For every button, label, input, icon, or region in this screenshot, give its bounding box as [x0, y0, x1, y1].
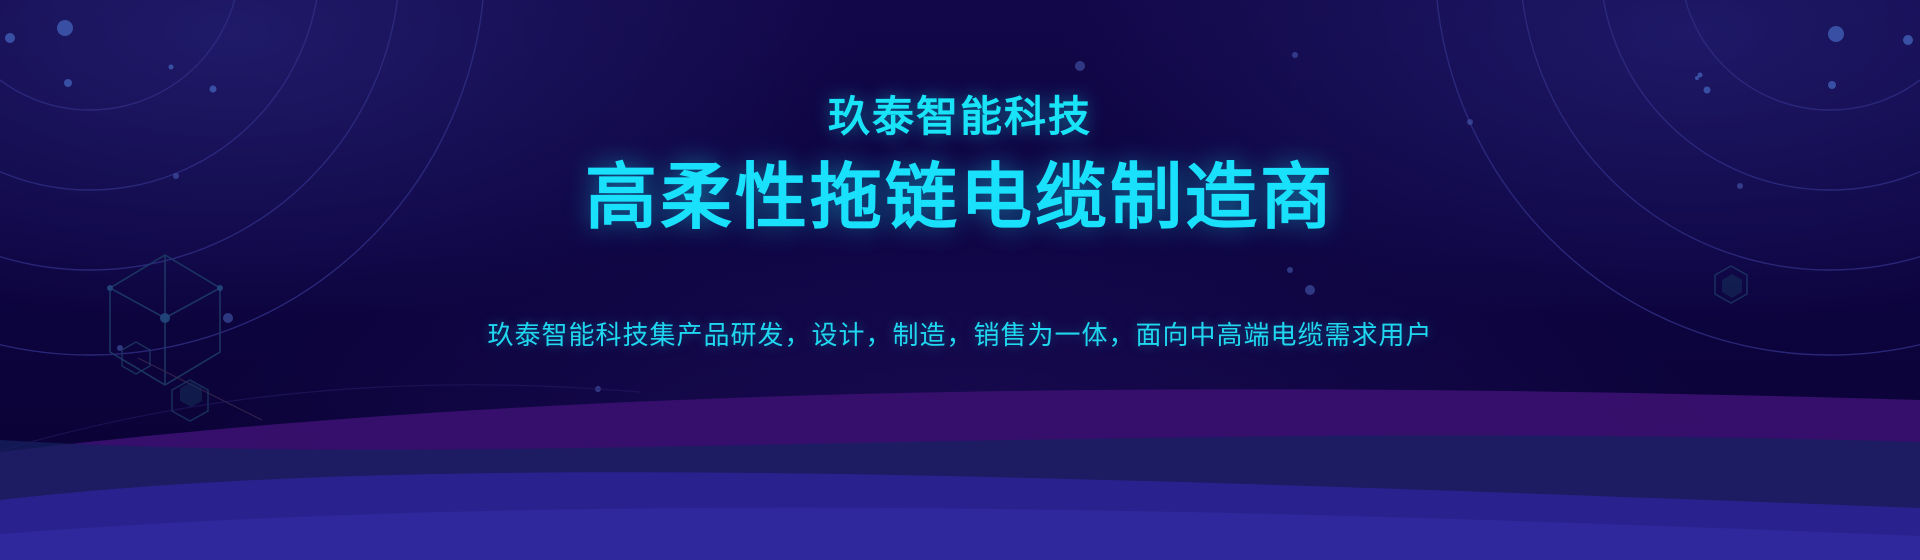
banner-subtitle: 玖泰智能科技集产品研发，设计，制造，销售为一体，面向中高端电缆需求用户	[487, 320, 1432, 351]
banner-eyebrow: 玖泰智能科技	[828, 96, 1092, 138]
hero-banner: 玖泰智能科技 高柔性拖链电缆制造商 玖泰智能科技集产品研发，设计，制造，销售为一…	[0, 0, 1920, 560]
banner-content: 玖泰智能科技 高柔性拖链电缆制造商 玖泰智能科技集产品研发，设计，制造，销售为一…	[0, 0, 1920, 560]
banner-headline: 高柔性拖链电缆制造商	[585, 162, 1335, 234]
